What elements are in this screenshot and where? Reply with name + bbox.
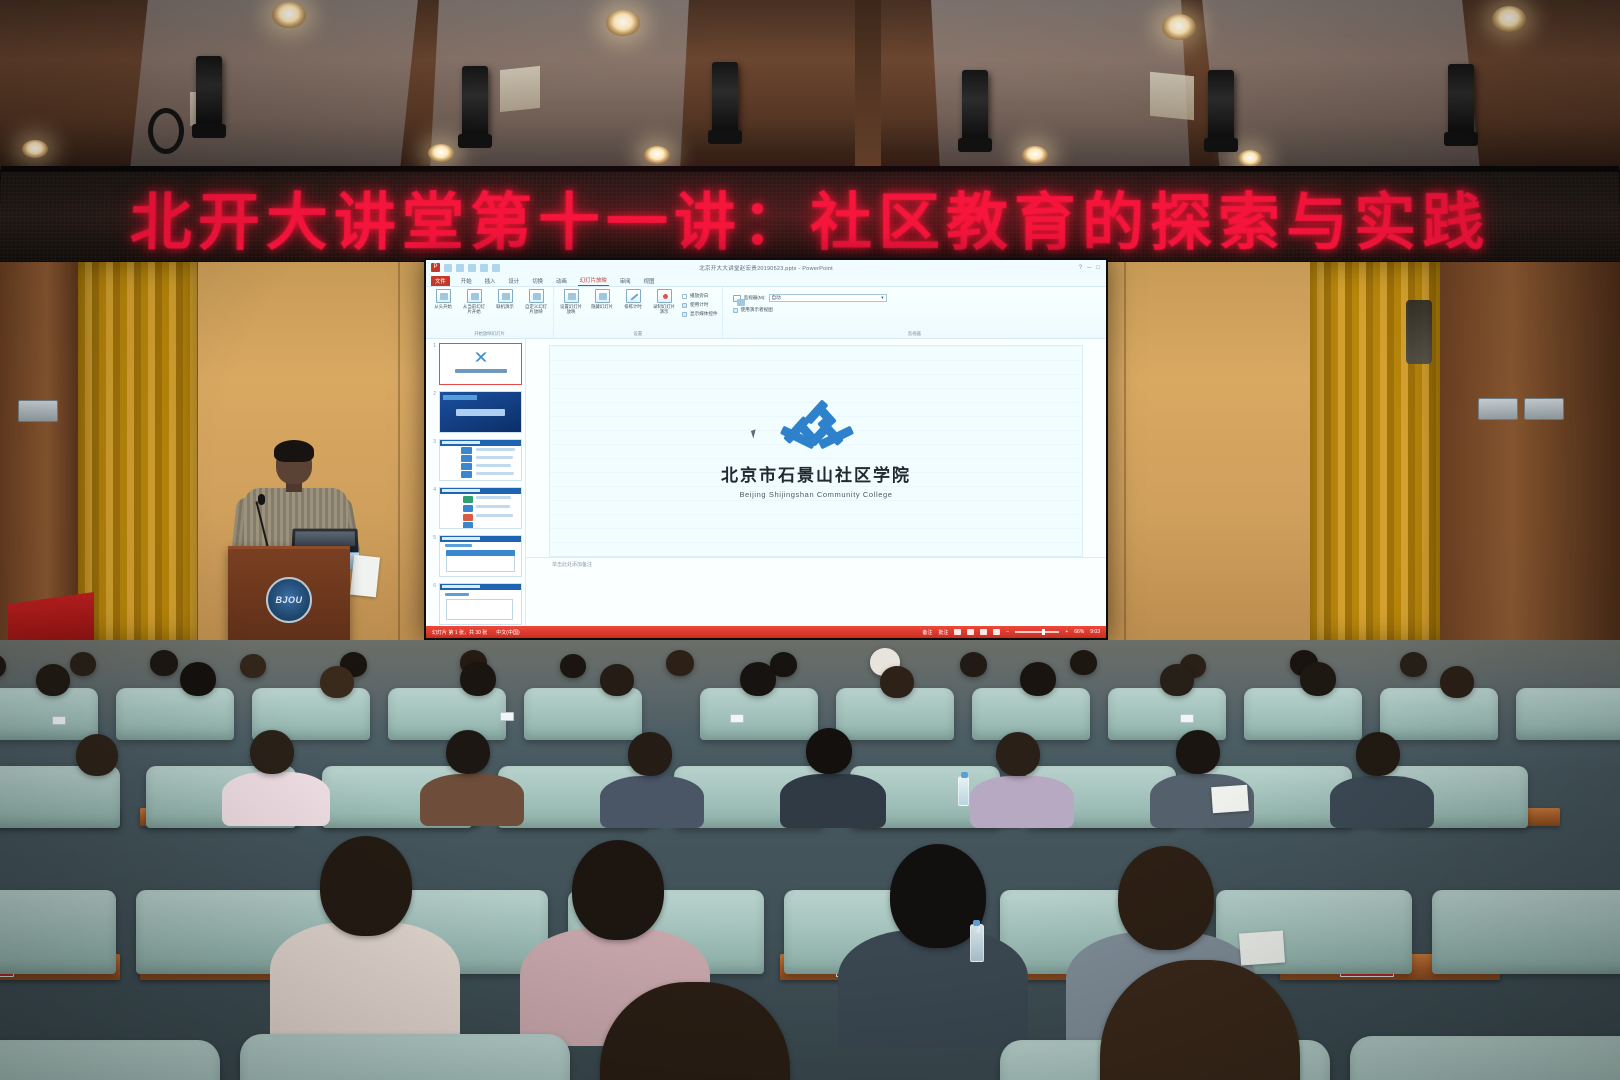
auditorium-seat (388, 688, 506, 740)
exit-sign (1478, 398, 1518, 420)
hide-slide-icon (595, 289, 610, 303)
ceiling-vent (1150, 72, 1194, 121)
audience-shoulders (420, 774, 524, 826)
slide-thumbnail-panel[interactable]: 1 2 3 (426, 339, 526, 626)
auditorium-seat (240, 1034, 570, 1080)
restore-icon[interactable]: □ (1096, 265, 1100, 271)
audience-shoulders (270, 922, 460, 1042)
audience-head (240, 654, 266, 678)
university-emblem: BJOU (266, 577, 312, 623)
reading-view-icon[interactable] (980, 629, 987, 635)
slide-thumbnail-5[interactable] (439, 535, 522, 577)
led-banner-text: 北开大讲堂第十一讲：社区教育的探索与实践 (129, 172, 1491, 262)
thumb-chip (463, 514, 474, 521)
custom-slideshow-button[interactable]: 自定义幻灯片放映 (523, 289, 549, 314)
current-slide-canvas[interactable]: 北京市石景山社区学院 Beijing Shijingshan Community… (549, 345, 1083, 557)
ribbon-group-monitors: 监视器(M): 自动 ▾ 使用演示者视图 监视器 (723, 287, 1106, 338)
audience-shoulders (780, 774, 886, 828)
window-controls[interactable]: ? ─ □ (1079, 265, 1100, 271)
thumb-title (456, 409, 505, 416)
name-badge (1180, 714, 1194, 723)
audience-head (1400, 652, 1427, 677)
exit-sign (18, 400, 58, 422)
start-from-beginning-label: 从头开始 (434, 304, 452, 309)
audience-head (740, 662, 776, 696)
auditorium-seat (524, 688, 642, 740)
audience-shoulders (1330, 776, 1434, 828)
ribbon-group-setup: 设置幻灯片放映 隐藏幻灯片 排练计时 录制幻灯片演示 (554, 287, 723, 338)
auditorium-seat (1432, 890, 1620, 974)
thumb-chip (461, 471, 472, 478)
help-icon[interactable]: ? (1079, 265, 1082, 271)
ribbon-tab-view[interactable]: 视图 (642, 277, 657, 286)
rehearse-timings-button[interactable]: 排练计时 (620, 289, 646, 309)
ceiling-strip (855, 0, 881, 170)
present-online-icon (498, 289, 513, 303)
ribbon-group-label-monitors: 监视器 (727, 331, 1102, 337)
checkbox-label: 播放旁白 (690, 293, 708, 299)
lecture-hall-photo: 北开大讲堂第十一讲：社区教育的探索与实践 P 北京开大大讲堂赵宏贵201 (0, 0, 1620, 1080)
audience-head (250, 730, 294, 774)
audience-head (1356, 732, 1400, 776)
audience-head (320, 666, 354, 698)
setup-slideshow-label: 设置幻灯片放映 (558, 304, 584, 314)
handout-paper (1211, 785, 1249, 813)
audience-head (1118, 846, 1214, 950)
audience-shoulders (600, 776, 704, 828)
thumb-header-text (442, 441, 479, 444)
ppt-document-title: 北京开大大讲堂赵宏贵20190523.pptx - PowerPoint (426, 264, 1106, 272)
setup-slideshow-button[interactable]: 设置幻灯片放映 (558, 289, 584, 314)
podium-papers (350, 555, 380, 597)
slide-thumbnail-3[interactable] (439, 439, 522, 481)
audience-head (1020, 662, 1056, 696)
projection-screen: P 北京开大大讲堂赵宏贵20190523.pptx - PowerPoint ?… (424, 258, 1108, 640)
thumb-line (476, 448, 515, 451)
checkbox-box (682, 312, 687, 317)
custom-slideshow-label: 自定义幻灯片放映 (523, 304, 549, 314)
ceiling-cable-loop (148, 108, 184, 154)
stage-spotlight (962, 70, 988, 144)
stage-spotlight (1208, 70, 1234, 144)
thumb-line (476, 505, 510, 508)
audience-head (600, 664, 634, 696)
thumb-logo-icon (474, 352, 488, 361)
stage-spotlight (1448, 64, 1474, 138)
powerpoint-window: P 北京开大大讲堂赵宏贵20190523.pptx - PowerPoint ?… (426, 260, 1106, 638)
ceiling-downlight (1492, 6, 1526, 32)
auditorium-seat (1380, 688, 1498, 740)
ceiling-downlight (1238, 150, 1262, 167)
thumb-line (476, 496, 512, 499)
led-banner: 北开大讲堂第十一讲：社区教育的探索与实践 (0, 166, 1620, 266)
audience-head (1300, 662, 1336, 696)
slide-thumbnail-6[interactable] (439, 583, 522, 625)
audience-area (0, 640, 1620, 1080)
thumb-bar (443, 395, 477, 400)
audience-head (666, 650, 694, 676)
thumb-table (446, 599, 512, 620)
audience-head (70, 652, 96, 676)
thumbnail-row[interactable]: 3 (429, 439, 522, 481)
start-from-current-label: 从当前幻灯片开始 (461, 304, 487, 314)
exit-sign (1524, 398, 1564, 420)
audience-shoulders (222, 772, 330, 826)
ceiling-downlight (22, 140, 48, 158)
audience-head (1440, 666, 1474, 698)
ribbon-tab-file[interactable]: 文件 (431, 276, 450, 286)
audience-head (1160, 664, 1194, 696)
ribbon-tab-insert[interactable]: 插入 (483, 277, 498, 286)
microphone-head-icon (258, 494, 265, 505)
audience-head (560, 654, 586, 678)
audience-head (180, 662, 216, 696)
ribbon-tab-design[interactable]: 设计 (506, 277, 521, 286)
thumb-line (445, 593, 469, 596)
ceiling-downlight (1162, 14, 1196, 40)
start-from-current-icon (467, 289, 482, 303)
wall-wood-left (0, 262, 78, 642)
thumb-chip (461, 447, 472, 454)
normal-view-icon[interactable] (954, 629, 961, 635)
ppt-workspace: 1 2 3 (426, 339, 1106, 626)
ribbon-tab-slideshow[interactable]: 幻灯片放映 (578, 276, 609, 286)
ceiling-downlight (644, 146, 670, 164)
slideshow-view-icon[interactable] (993, 629, 1000, 635)
clock-label: 9:03 (1090, 629, 1100, 635)
water-bottle (958, 776, 969, 806)
auditorium-seat (0, 1040, 220, 1080)
thumb-chip (461, 463, 472, 470)
ceiling-panel (1200, 0, 1484, 170)
thumbnail-number: 4 (429, 487, 436, 493)
thumbnail-row[interactable]: 5 (429, 535, 522, 577)
auditorium-seat (116, 688, 234, 740)
ppt-status-bar: 幻灯片 第 1 张，共 30 张 中文(中国) 备注 批注 − + 66% 9:… (426, 626, 1106, 638)
custom-slideshow-icon (529, 289, 544, 303)
setup-checkbox-column: 播放旁白 使用计时 显示媒体控件 (682, 289, 718, 317)
ribbon-tab-home[interactable]: 开始 (459, 277, 474, 286)
slide-indicator: 幻灯片 第 1 张，共 30 张 (432, 629, 487, 636)
hide-slide-label: 隐藏幻灯片 (591, 304, 613, 309)
monitor-label: 监视器(M): (744, 295, 766, 301)
thumb-logo-text (455, 369, 507, 373)
thumb-header-text (442, 585, 479, 588)
thumbnail-row[interactable]: 2 (429, 391, 522, 433)
thumbnail-number: 3 (429, 439, 436, 445)
auditorium-seat (1516, 688, 1620, 740)
rehearse-timings-icon (626, 289, 641, 303)
record-slideshow-icon (657, 289, 672, 303)
monitor-select-value: 自动 (772, 295, 781, 301)
language-indicator[interactable]: 中文(中国) (496, 629, 519, 636)
rehearse-timings-label: 排练计时 (624, 304, 642, 309)
zoom-in-icon[interactable]: + (1065, 629, 1068, 635)
chevron-down-icon: ▾ (881, 295, 883, 301)
ceiling-downlight (272, 2, 306, 28)
checkbox-use-timings[interactable]: 使用计时 (682, 302, 718, 308)
thumb-chip (463, 505, 474, 512)
ceiling-downlight (606, 10, 640, 36)
setup-slideshow-icon (564, 289, 579, 303)
thumbnail-row[interactable]: 1 (429, 343, 522, 385)
checkbox-label: 显示媒体控件 (690, 311, 718, 317)
audience-head (76, 734, 118, 776)
thumb-chip (463, 522, 474, 529)
audience-head (628, 732, 672, 776)
comments-button[interactable]: 批注 (938, 629, 948, 636)
audience-head (960, 652, 987, 677)
ribbon-tab-strip[interactable]: 文件 开始 插入 设计 切换 动画 幻灯片放映 审阅 视图 (426, 275, 1106, 287)
ribbon-tab-review[interactable]: 审阅 (618, 277, 633, 286)
slide-thumbnail-2[interactable] (439, 391, 522, 433)
audience-head (572, 840, 664, 940)
thumb-line (476, 464, 512, 467)
name-badge (500, 712, 514, 721)
wall-seam (398, 262, 400, 642)
slide-logo-block: 北京市石景山社区学院 Beijing Shijingshan Community… (721, 399, 911, 499)
start-from-current-button[interactable]: 从当前幻灯片开始 (461, 289, 487, 314)
thumbnail-number: 6 (429, 583, 436, 589)
thumbnail-row[interactable]: 4 (429, 487, 522, 529)
checkbox-box (682, 294, 687, 299)
wall-speaker (1406, 300, 1432, 364)
audience-head (996, 732, 1040, 776)
thumb-line (476, 456, 513, 459)
slide-thumbnail-1[interactable] (439, 343, 522, 385)
present-online-button[interactable]: 联机演示 (492, 289, 518, 309)
wall-wood-right (1440, 262, 1620, 642)
hide-slide-button[interactable]: 隐藏幻灯片 (589, 289, 615, 309)
thumbnail-number: 2 (429, 391, 436, 397)
name-badge (730, 714, 744, 723)
thumb-chip (461, 455, 472, 462)
thumbnail-row[interactable]: 6 (429, 583, 522, 625)
slide-thumbnail-4[interactable] (439, 487, 522, 529)
monitor-icon (733, 295, 741, 302)
checkbox-presenter-view[interactable]: 使用演示者视图 (733, 307, 1098, 313)
monitor-select-row[interactable]: 监视器(M): 自动 ▾ (733, 294, 1098, 302)
monitor-controls: 监视器(M): 自动 ▾ 使用演示者视图 (727, 289, 1102, 313)
ceiling-downlight (428, 144, 454, 162)
thumb-chip (463, 496, 474, 503)
thumb-header-text (442, 537, 479, 540)
auditorium-seat (1244, 688, 1362, 740)
notes-toggle-button[interactable]: 备注 (922, 629, 932, 636)
stage-spotlight (462, 66, 488, 140)
notes-pane[interactable]: 单击此处添加备注 (526, 557, 1106, 573)
checkbox-label: 使用计时 (690, 302, 708, 308)
checkbox-play-narrations[interactable]: 播放旁白 (682, 293, 718, 299)
auditorium-seat (1350, 1036, 1620, 1080)
stage-spotlight (196, 56, 222, 130)
zoom-slider[interactable] (1015, 631, 1059, 633)
ribbon-body: 从头开始 从当前幻灯片开始 联机演示 自定义幻灯片放映 (426, 287, 1106, 339)
present-online-label: 联机演示 (496, 304, 514, 309)
shijingshan-college-logo-icon (768, 399, 864, 457)
thumb-line (445, 544, 473, 547)
audience-head (460, 662, 496, 696)
ribbon-tab-animations[interactable]: 动画 (554, 277, 569, 286)
slide-sorter-icon[interactable] (967, 629, 974, 635)
zoom-out-icon[interactable]: − (1006, 629, 1009, 635)
checkbox-show-media-controls[interactable]: 显示媒体控件 (682, 311, 718, 317)
checkbox-box (733, 308, 738, 313)
speaker-hair (274, 440, 314, 462)
record-slideshow-label: 录制幻灯片演示 (651, 304, 677, 314)
audience-head (1176, 730, 1220, 774)
zoom-level-label[interactable]: 66% (1074, 629, 1084, 635)
ppt-title-bar: P 北京开大大讲堂赵宏贵20190523.pptx - PowerPoint ?… (426, 260, 1106, 275)
audience-head (1070, 650, 1097, 675)
thumb-line (476, 514, 513, 517)
handout-paper (1239, 931, 1285, 966)
start-from-beginning-icon (436, 289, 451, 303)
audience-head (36, 664, 70, 696)
ribbon-tab-transitions[interactable]: 切换 (530, 277, 545, 286)
lectern-podium: BJOU (228, 546, 350, 648)
auditorium-seat (0, 890, 116, 974)
thumb-header-text (442, 489, 479, 492)
ceiling (0, 0, 1620, 170)
audience-head (806, 728, 852, 774)
ribbon-group-label-setup: 设置 (558, 331, 718, 337)
checkbox-label: 使用演示者视图 (741, 307, 773, 313)
thumbnail-number: 5 (429, 535, 436, 541)
ribbon-group-start-slideshow: 从头开始 从当前幻灯片开始 联机演示 自定义幻灯片放映 (426, 287, 554, 338)
thumbnail-number: 1 (429, 343, 436, 349)
status-right-group: 备注 批注 − + 66% 9:03 (922, 629, 1100, 636)
ceiling-vent (500, 66, 540, 112)
auditorium-seat (972, 688, 1090, 740)
stage-spotlight (712, 62, 738, 136)
audience-head (446, 730, 490, 774)
thumb-table-header (446, 550, 514, 556)
slide-editing-area[interactable]: 北京市石景山社区学院 Beijing Shijingshan Community… (526, 339, 1106, 626)
audience-shoulders (970, 776, 1074, 828)
start-from-beginning-button[interactable]: 从头开始 (430, 289, 456, 309)
stage-curtain-left (78, 262, 198, 642)
thumb-line (476, 472, 514, 475)
minimize-icon[interactable]: ─ (1087, 265, 1091, 271)
audience-head (320, 836, 412, 936)
water-bottle (970, 924, 984, 962)
audience-head (880, 666, 914, 698)
slide-logo-chinese-name: 北京市石景山社区学院 (721, 461, 911, 486)
wall-seam (1124, 262, 1126, 642)
slide-logo-english-name: Beijing Shijingshan Community College (739, 490, 892, 499)
ribbon-group-label-start: 开始放映幻灯片 (430, 331, 549, 337)
name-badge (52, 716, 66, 725)
ceiling-downlight (1022, 146, 1048, 164)
record-slideshow-button[interactable]: 录制幻灯片演示 (651, 289, 677, 314)
audience-head (150, 650, 178, 676)
checkbox-box (682, 303, 687, 308)
monitor-select[interactable]: 自动 ▾ (769, 294, 887, 302)
